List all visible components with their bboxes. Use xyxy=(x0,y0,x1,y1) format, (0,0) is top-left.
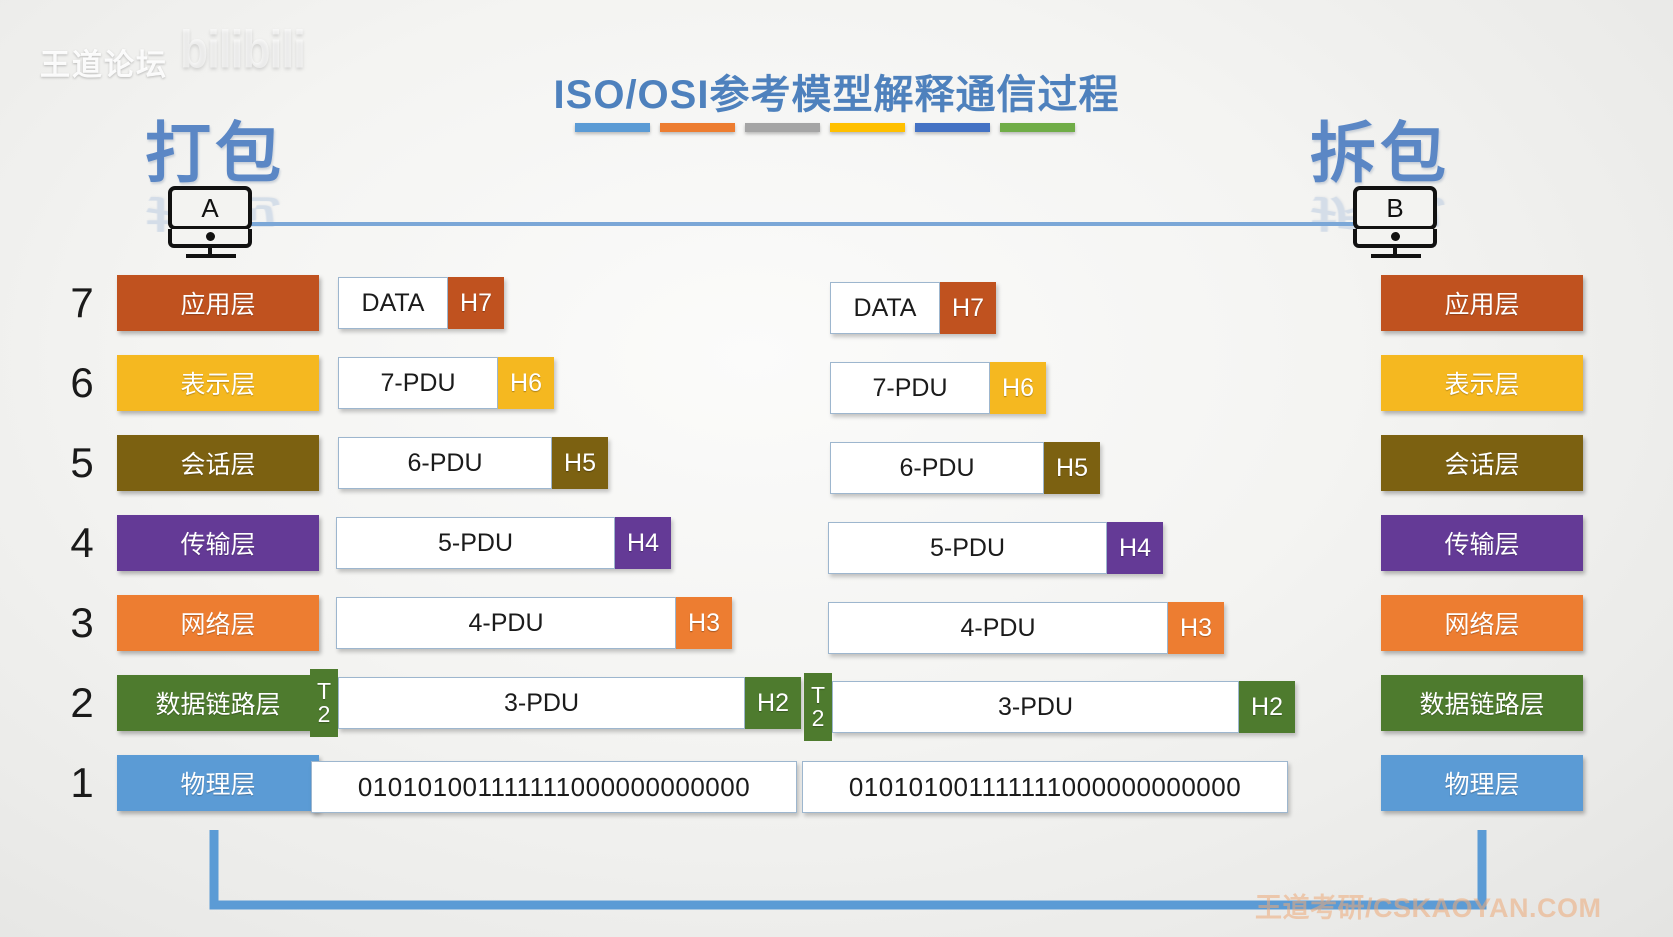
trailer-line-2: 2 xyxy=(318,703,331,726)
layer-name-right[interactable]: 会话层 xyxy=(1381,435,1583,491)
layer-name-left[interactable]: 应用层 xyxy=(117,275,319,331)
trailer-line-2: 2 xyxy=(812,707,825,730)
pdu-payload-left: 3-PDU xyxy=(338,677,745,729)
layer-number: 2 xyxy=(62,672,102,734)
pdu-payload-right: DATA xyxy=(830,282,940,334)
pdu-payload-right: 5-PDU xyxy=(828,522,1107,574)
layer-number: 1 xyxy=(62,752,102,814)
title-underline-bars xyxy=(575,123,1075,132)
pdu-unit-left[interactable]: 5-PDUH4 xyxy=(336,517,671,569)
pdu-header-left: H4 xyxy=(615,517,671,569)
layer-name-right[interactable]: 数据链路层 xyxy=(1381,675,1583,731)
pdu-payload-right: 010101001111111000000000000 xyxy=(802,761,1288,813)
pdu-header-left: H2 xyxy=(745,677,801,729)
pdu-header-right: H3 xyxy=(1168,602,1224,654)
layer-name-left[interactable]: 会话层 xyxy=(117,435,319,491)
pdu-header-right: H2 xyxy=(1239,681,1295,733)
pdu-unit-right[interactable]: DATAH7 xyxy=(830,282,996,334)
pdu-payload-right: 7-PDU xyxy=(830,362,990,414)
pdu-header-left: H3 xyxy=(676,597,732,649)
pdu-payload-right: 6-PDU xyxy=(830,442,1044,494)
osi-layer-row: 3网络层网络层4-PDUH34-PDUH3 xyxy=(0,592,1673,654)
pdu-header-left: H5 xyxy=(552,437,608,489)
pdu-unit-left[interactable]: DATAH7 xyxy=(338,277,504,329)
host-b-indicator-dot xyxy=(1391,232,1400,241)
bottom-watermark: 王道考研/CSKAOYAN.COM xyxy=(1255,886,1602,925)
host-link-line xyxy=(240,222,1360,226)
pdu-unit-right[interactable]: 010101001111111000000000000 xyxy=(802,761,1288,813)
host-a-screen: A xyxy=(168,186,252,230)
layer-name-left[interactable]: 传输层 xyxy=(117,515,319,571)
pdu-unit-right[interactable]: 4-PDUH3 xyxy=(828,602,1224,654)
layer-number: 5 xyxy=(62,432,102,494)
layer-name-right[interactable]: 表示层 xyxy=(1381,355,1583,411)
title-bar-1 xyxy=(575,123,650,132)
layer-name-left[interactable]: 物理层 xyxy=(117,755,319,811)
pdu-unit-right[interactable]: 5-PDUH4 xyxy=(828,522,1163,574)
pdu-header-right: H5 xyxy=(1044,442,1100,494)
pdu-unit-left[interactable]: 7-PDUH6 xyxy=(338,357,554,409)
host-b-screen: B xyxy=(1353,186,1437,230)
pdu-payload-left: 5-PDU xyxy=(336,517,615,569)
pdu-payload-left: 010101001111111000000000000 xyxy=(311,761,797,813)
pdu-payload-right: 4-PDU xyxy=(828,602,1168,654)
layer-name-right[interactable]: 应用层 xyxy=(1381,275,1583,331)
osi-layer-row: 7应用层应用层DATAH7DATAH7 xyxy=(0,272,1673,334)
pdu-trailer-right: T2 xyxy=(804,673,832,741)
osi-layer-row: 5会话层会话层6-PDUH56-PDUH5 xyxy=(0,432,1673,494)
layer-name-right[interactable]: 网络层 xyxy=(1381,595,1583,651)
osi-layer-row: 4传输层传输层5-PDUH45-PDUH4 xyxy=(0,512,1673,574)
title-bar-6 xyxy=(1000,123,1075,132)
pdu-header-right: H4 xyxy=(1107,522,1163,574)
osi-layer-row: 2数据链路层数据链路层T23-PDUH2T23-PDUH2 xyxy=(0,672,1673,734)
layer-number: 7 xyxy=(62,272,102,334)
pdu-payload-left: 7-PDU xyxy=(338,357,498,409)
layer-number: 3 xyxy=(62,592,102,654)
pdu-unit-right[interactable]: T23-PDUH2 xyxy=(832,681,1295,733)
trailer-line-1: T xyxy=(811,684,825,707)
host-computer-a: A xyxy=(168,186,256,252)
pdu-trailer-left: T2 xyxy=(310,669,338,737)
layer-name-right[interactable]: 物理层 xyxy=(1381,755,1583,811)
host-a-stand-foot xyxy=(186,254,236,258)
pdu-unit-right[interactable]: 7-PDUH6 xyxy=(830,362,1046,414)
title-bar-2 xyxy=(660,123,735,132)
label-packing-text: 打包 xyxy=(145,114,285,192)
layer-name-left[interactable]: 表示层 xyxy=(117,355,319,411)
pdu-payload-right: 3-PDU xyxy=(832,681,1239,733)
pdu-payload-left: 6-PDU xyxy=(338,437,552,489)
pdu-header-left: H7 xyxy=(448,277,504,329)
layer-name-left[interactable]: 网络层 xyxy=(117,595,319,651)
osi-layer-row: 6表示层表示层7-PDUH67-PDUH6 xyxy=(0,352,1673,414)
pdu-payload-left: 4-PDU xyxy=(336,597,676,649)
layer-number: 4 xyxy=(62,512,102,574)
pdu-unit-left[interactable]: 6-PDUH5 xyxy=(338,437,608,489)
layer-number: 6 xyxy=(62,352,102,414)
pdu-header-right: H6 xyxy=(990,362,1046,414)
layer-name-left[interactable]: 数据链路层 xyxy=(117,675,319,731)
pdu-payload-left: DATA xyxy=(338,277,448,329)
pdu-header-right: H7 xyxy=(940,282,996,334)
host-a-indicator-dot xyxy=(206,232,215,241)
slide-canvas: bilibili 王道论坛 ISO/OSI参考模型解释通信过程 打包 打包 拆包… xyxy=(0,0,1673,937)
trailer-line-1: T xyxy=(317,680,331,703)
pdu-unit-left[interactable]: 4-PDUH3 xyxy=(336,597,732,649)
title-bar-4 xyxy=(830,123,905,132)
label-packing: 打包 打包 xyxy=(145,100,285,196)
host-b-stand-foot xyxy=(1371,254,1421,258)
host-computer-b: B xyxy=(1353,186,1441,252)
layer-name-right[interactable]: 传输层 xyxy=(1381,515,1583,571)
label-unpacking-text: 拆包 xyxy=(1310,114,1450,192)
pdu-unit-left[interactable]: T23-PDUH2 xyxy=(338,677,801,729)
label-unpacking: 拆包 拆包 xyxy=(1310,100,1450,196)
title-bar-5 xyxy=(915,123,990,132)
pdu-header-left: H6 xyxy=(498,357,554,409)
osi-layer-row: 1物理层物理层010101001111111000000000000010101… xyxy=(0,752,1673,814)
pdu-unit-left[interactable]: 010101001111111000000000000 xyxy=(311,761,797,813)
title-bar-3 xyxy=(745,123,820,132)
pdu-unit-right[interactable]: 6-PDUH5 xyxy=(830,442,1100,494)
